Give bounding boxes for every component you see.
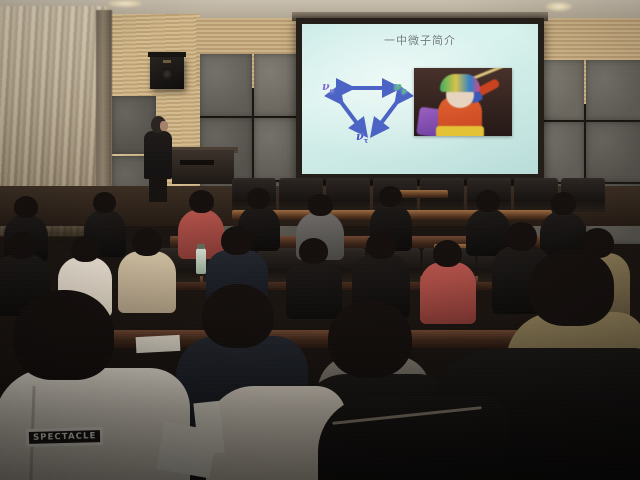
lecture-hall-photo: 一中微子简介 νe νμ ντ — [0, 0, 640, 480]
water-bottle-cap — [197, 244, 205, 249]
acoustic-panel — [586, 60, 640, 120]
audience-torso — [420, 262, 476, 324]
presenter-legs — [149, 176, 167, 202]
audience-head — [433, 240, 462, 267]
slide-title: 一中微子简介 — [302, 32, 538, 48]
audience-head — [551, 192, 576, 215]
nu-e-label: νe — [322, 80, 334, 95]
audience-head — [366, 232, 396, 259]
audience-torso — [118, 251, 176, 313]
performer-skirt — [436, 126, 484, 136]
audience-head — [14, 290, 114, 380]
projection-screen: 一中微子简介 νe νμ ντ — [302, 24, 538, 174]
speaker-cone-icon — [161, 68, 173, 80]
audience-head — [379, 186, 402, 207]
presenter-face — [160, 121, 168, 131]
audience-head — [202, 284, 274, 348]
nu-tau-label: ντ — [356, 130, 368, 145]
speaker-indicator — [163, 60, 171, 63]
acoustic-panel — [200, 54, 252, 116]
audience-head — [132, 228, 162, 256]
audience-head — [476, 190, 500, 212]
paper-handout — [156, 422, 218, 479]
ceiling-light — [546, 2, 572, 11]
audience-head — [530, 250, 614, 326]
wall-speaker — [150, 57, 184, 89]
audience-head — [189, 190, 214, 213]
audience-head — [71, 236, 100, 262]
audience-head — [247, 188, 270, 209]
ceiling-light — [108, 0, 142, 7]
audience-head — [14, 196, 38, 218]
nu-mu-label: νμ — [394, 80, 407, 95]
audience-head — [7, 232, 37, 259]
audience-head — [93, 192, 116, 213]
wall-pillar — [96, 10, 112, 215]
slide-photo-opera-performer — [414, 68, 512, 136]
audience-head — [506, 222, 537, 251]
audience-head — [328, 300, 412, 378]
presenter-torso — [144, 131, 172, 179]
performer-headdress — [440, 74, 480, 92]
audience-head — [308, 194, 333, 216]
jacket-patch: SPECTACLE — [26, 427, 104, 447]
audience-torso — [286, 259, 342, 319]
audience-head — [221, 226, 253, 255]
lectern — [172, 150, 234, 184]
jacket-patch-text: SPECTACLE — [29, 430, 101, 443]
lectern-shelf — [180, 160, 214, 165]
water-bottle — [196, 248, 206, 274]
paper-handout — [136, 335, 181, 353]
acoustic-panel — [586, 122, 640, 182]
neutrino-oscillation-diagram: νe νμ ντ — [320, 74, 422, 154]
audience-head — [299, 238, 328, 264]
